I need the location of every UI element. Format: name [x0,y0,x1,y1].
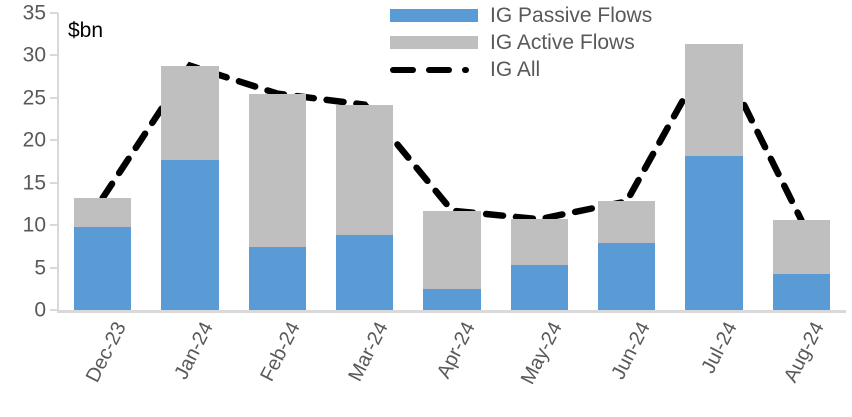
x-tick-label: May-24 [518,319,566,388]
bar-segment-passive[interactable] [423,289,481,310]
x-tick-label: Jun-24 [608,319,654,383]
legend-swatch-icon-active [390,36,478,49]
bar-segment-passive[interactable] [74,227,132,310]
x-tick-label: Dec-23 [82,319,129,386]
x-axis: Dec-23Jan-24Feb-24Mar-24Apr-24May-24Jun-… [59,313,845,417]
bar-stack[interactable] [511,219,569,310]
bar-stack[interactable] [685,44,743,310]
bar-segment-passive[interactable] [598,243,656,310]
legend-item-ig-passive-flows[interactable]: IG Passive Flows [390,2,710,29]
y-tick-mark [50,12,58,14]
y-tick-label: 20 [2,130,46,151]
legend-item-ig-active-flows[interactable]: IG Active Flows [390,29,710,56]
x-tick-label: Apr-24 [434,319,479,382]
legend-item-ig-all[interactable]: IG All [390,56,710,83]
bar-stack[interactable] [598,201,656,310]
stacked-bar-chart: 05101520253035 $bn Dec-23Jan-24Feb-24Mar… [0,0,852,417]
x-tick-label: Jan-24 [171,319,217,383]
y-tick-label: 30 [2,45,46,66]
legend-dashed-line-icon [390,63,478,76]
y-tick-mark [50,267,58,269]
legend-label-active: IG Active Flows [490,32,635,53]
legend-label-passive: IG Passive Flows [490,5,652,26]
y-tick-mark [50,182,58,184]
y-tick-label: 5 [2,257,46,278]
x-tick-label: Feb-24 [258,319,305,385]
bar-group [234,13,321,310]
bar-segment-active[interactable] [511,219,569,265]
bar-segment-passive[interactable] [249,247,307,310]
y-tick-label: 10 [2,215,46,236]
y-axis: 05101520253035 [0,0,46,417]
y-tick-mark [50,54,58,56]
bar-segment-active[interactable] [423,211,481,289]
bar-segment-passive[interactable] [773,274,831,310]
bar-group [146,13,233,310]
legend-swatch-icon-passive [390,9,478,22]
chart-legend: IG Passive Flows IG Active Flows IG All [390,2,710,83]
bar-stack[interactable] [74,198,132,310]
bar-segment-active[interactable] [161,66,219,160]
bar-stack[interactable] [423,211,481,310]
bar-segment-passive[interactable] [336,235,394,310]
bar-segment-active[interactable] [74,198,132,227]
bar-segment-active[interactable] [336,105,394,236]
bar-group [758,13,845,310]
bar-segment-passive[interactable] [511,265,569,310]
bar-stack[interactable] [336,105,394,310]
y-tick-mark [50,309,58,311]
x-tick-label: Mar-24 [345,319,392,385]
y-tick-label: 15 [2,172,46,193]
bar-stack[interactable] [773,220,831,310]
y-tick-label: 35 [2,3,46,24]
bar-segment-active[interactable] [773,220,831,274]
bar-stack[interactable] [161,66,219,310]
x-tick-label: Jul-24 [698,319,741,377]
bar-segment-active[interactable] [249,94,307,248]
x-tick-label: Aug-24 [781,319,828,386]
bar-segment-active[interactable] [598,201,656,243]
y-tick-mark [50,139,58,141]
bar-group [59,13,146,310]
bar-stack[interactable] [249,94,307,310]
bar-segment-passive[interactable] [685,156,743,310]
y-tick-label: 25 [2,87,46,108]
legend-label-ig-all: IG All [490,59,540,80]
bar-segment-passive[interactable] [161,160,219,310]
y-tick-mark [50,97,58,99]
y-tick-label: 0 [2,300,46,321]
y-tick-mark [50,224,58,226]
